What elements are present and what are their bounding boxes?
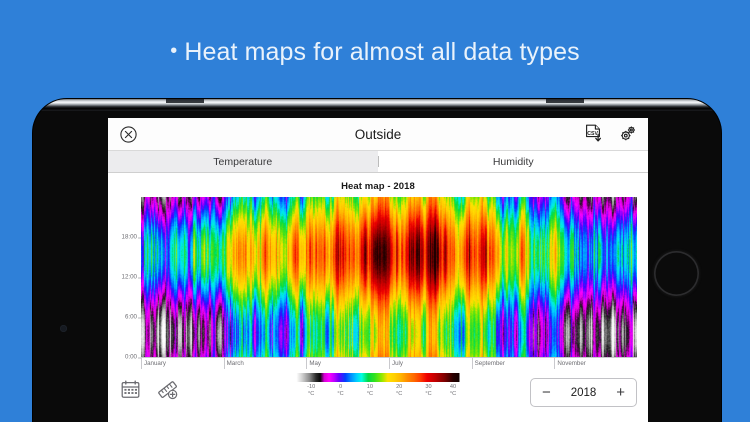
x-axis-tick: March (224, 360, 244, 367)
x-axis-tick: November (554, 360, 586, 367)
tab-temperature[interactable]: Temperature (108, 151, 378, 172)
colorbar-tick-value: 30 (425, 384, 431, 390)
heatmap-chart: 0:006:0012:0018:00 JanuaryMarchMayJulySe… (108, 197, 645, 369)
app-navbar: Outside CSV (108, 118, 648, 151)
colorbar-tick-unit: °C (396, 391, 402, 397)
year-stepper[interactable]: − 2018 + (530, 378, 637, 407)
x-axis-tick: September (472, 360, 505, 367)
bottom-toolbar: -10°C0°C10°C20°C30°C40°C − 2018 + (108, 369, 648, 417)
heatmap-plot-area[interactable] (141, 197, 637, 357)
marketing-headline: •Heat maps for almost all data types (0, 38, 750, 67)
colorbar-tick-unit: °C (367, 391, 373, 397)
x-axis-tick: July (389, 360, 403, 367)
calendar-icon[interactable] (120, 379, 141, 400)
colorbar-tick-labels: -10°C0°C10°C20°C30°C40°C (297, 384, 460, 400)
colorbar-gradient (297, 373, 460, 382)
heatmap-canvas[interactable] (141, 197, 637, 357)
tab-humidity-label: Humidity (493, 156, 534, 168)
colorbar-tick: 30°C (425, 384, 431, 398)
x-axis-tick: May (306, 360, 321, 367)
year-value: 2018 (571, 387, 597, 399)
temperature-colorbar: -10°C0°C10°C20°C30°C40°C (297, 373, 460, 400)
colorbar-tick-unit: °C (450, 391, 456, 397)
home-button[interactable] (654, 251, 699, 296)
colorbar-tick-unit: °C (337, 391, 343, 397)
colorbar-tick: -10°C (307, 384, 315, 398)
colorbar-tick-value: 20 (396, 384, 402, 390)
chart-title: Heat map - 2018 (108, 173, 648, 197)
y-axis-tick: 6:00 (125, 314, 137, 321)
colorbar-tick: 20°C (396, 384, 402, 398)
colorbar-tick-value: -10 (307, 384, 315, 390)
device-top-bezel-shadow (33, 108, 721, 111)
colorbar-tick-unit: °C (425, 391, 431, 397)
add-measurement-icon[interactable] (157, 379, 178, 400)
y-axis-tick: 12:00 (122, 274, 137, 281)
navbar-actions: CSV (584, 124, 637, 144)
x-axis-tick: January (141, 360, 166, 367)
bottom-toolbar-actions (120, 379, 178, 400)
csv-export-icon[interactable]: CSV (584, 124, 603, 144)
colorbar-tick: 0°C (337, 384, 343, 398)
antenna-band-right (546, 99, 584, 103)
headline-text: Heat maps for almost all data types (184, 38, 579, 66)
y-axis-tick: 0:00 (125, 354, 137, 361)
phone-screen: Outside CSV (108, 118, 648, 422)
colorbar-tick: 10°C (367, 384, 373, 398)
colorbar-tick-value: 0 (339, 384, 342, 390)
y-axis-tick: 18:00 (122, 234, 137, 241)
svg-text:CSV: CSV (587, 131, 598, 137)
year-decrement-button[interactable]: − (542, 385, 551, 400)
tab-temperature-label: Temperature (213, 156, 272, 168)
device-top-bezel-highlight (33, 99, 721, 108)
colorbar-tick-value: 10 (367, 384, 373, 390)
colorbar-tick-unit: °C (308, 391, 314, 397)
colorbar-tick-value: 40 (450, 384, 456, 390)
page-title: Outside (108, 118, 648, 151)
settings-gear-icon[interactable] (618, 124, 637, 144)
metric-tab-bar: Temperature Humidity (108, 151, 648, 173)
antenna-band-left (166, 99, 204, 103)
colorbar-tick: 40°C (450, 384, 456, 398)
chart-y-axis: 0:006:0012:0018:00 (108, 197, 141, 357)
phone-device-frame: Outside CSV (33, 99, 721, 422)
front-camera-icon (60, 325, 67, 332)
year-increment-button[interactable]: + (616, 385, 625, 400)
bullet-icon: • (170, 40, 177, 63)
tab-humidity[interactable]: Humidity (379, 151, 649, 172)
